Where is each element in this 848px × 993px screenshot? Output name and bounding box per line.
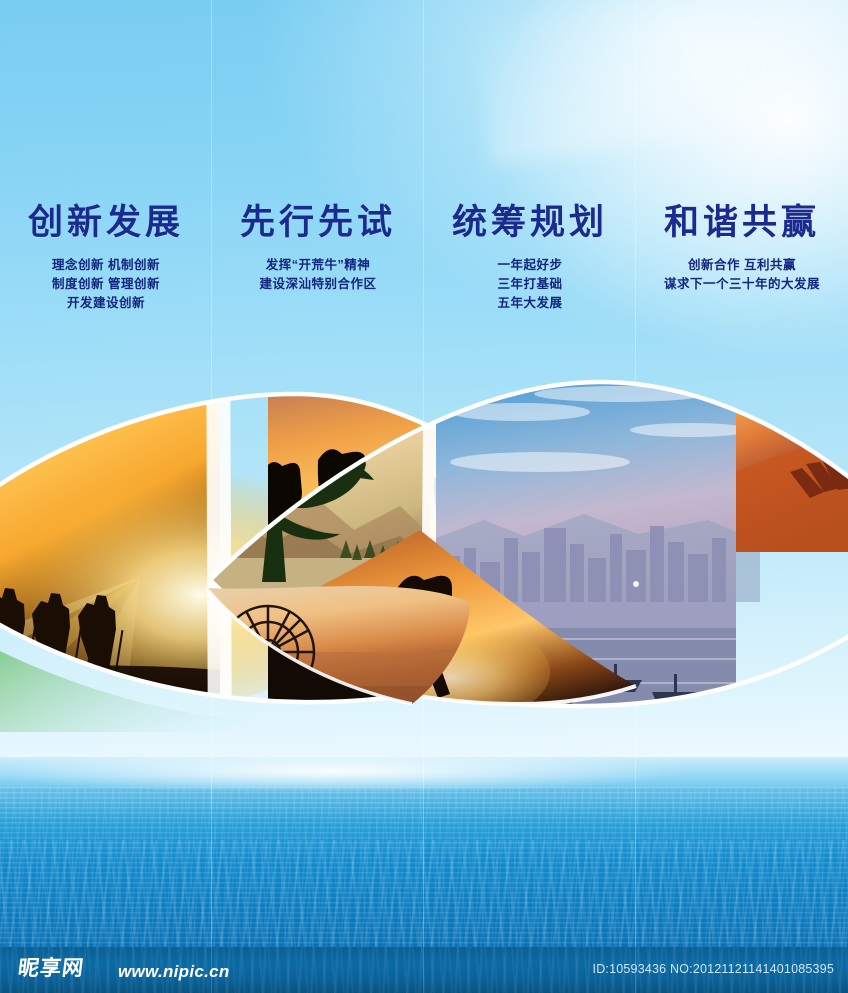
headline-title-4: 和谐共赢	[636, 205, 848, 240]
headline-subtitle-2: 发挥“开荒牛”精神 建设深汕特别合作区	[212, 256, 424, 294]
headline-subtitle-4: 创新合作 互利共赢 谋求下一个三十年的大发展	[636, 256, 848, 294]
ribbon-crossing-left	[209, 581, 215, 587]
subtitle-line: 五年大发展	[424, 294, 636, 313]
subtitle-line: 发挥“开荒牛”精神	[212, 256, 424, 275]
headline-subtitle-3: 一年起好步 三年打基础 五年大发展	[424, 256, 636, 312]
subtitle-line: 开发建设创新	[0, 294, 212, 313]
logo-char-1: 昵	[17, 958, 42, 979]
subtitle-line: 谋求下一个三十年的大发展	[636, 275, 848, 294]
subtitle-line: 创新合作 互利共赢	[636, 256, 848, 275]
headline-subtitle-1: 理念创新 机制创新 制度创新 管理创新 开发建设创新	[0, 256, 212, 312]
headline-title-2: 先行先试	[212, 205, 424, 240]
asset-id-text: ID:10593436 NO:20121121141401085395	[593, 963, 834, 976]
subtitle-line: 一年起好步	[424, 256, 636, 275]
ribbon-collage	[0, 352, 848, 732]
headline-title-1: 创新发展	[0, 205, 212, 240]
subtitle-line: 理念创新 机制创新	[0, 256, 212, 275]
headline-block-4: 和谐共赢 创新合作 互利共赢 谋求下一个三十年的大发展	[636, 205, 848, 294]
watermark-bar: 昵享网 www.nipic.cn ID:10593436 NO:20121121…	[0, 947, 848, 993]
headline-block-3: 统筹规划 一年起好步 三年打基础 五年大发展	[424, 205, 636, 312]
headline-title-3: 统筹规划	[424, 205, 636, 240]
site-logo: 昵享网	[17, 958, 86, 979]
headline-block-1: 创新发展 理念创新 机制创新 制度创新 管理创新 开发建设创新	[0, 205, 212, 312]
poster-canvas: 创新发展 理念创新 机制创新 制度创新 管理创新 开发建设创新 先行先试 发挥“…	[0, 0, 848, 993]
logo-char-3: 网	[61, 958, 86, 979]
subtitle-line: 制度创新 管理创新	[0, 275, 212, 294]
site-url[interactable]: www.nipic.cn	[118, 963, 230, 980]
logo-char-2: 享	[39, 958, 64, 979]
subtitle-line: 建设深汕特别合作区	[212, 275, 424, 294]
headline-block-2: 先行先试 发挥“开荒牛”精神 建设深汕特别合作区	[212, 205, 424, 294]
subtitle-line: 三年打基础	[424, 275, 636, 294]
ribbon-crossing-right	[633, 581, 639, 587]
watermark-seam-2	[423, 947, 424, 993]
